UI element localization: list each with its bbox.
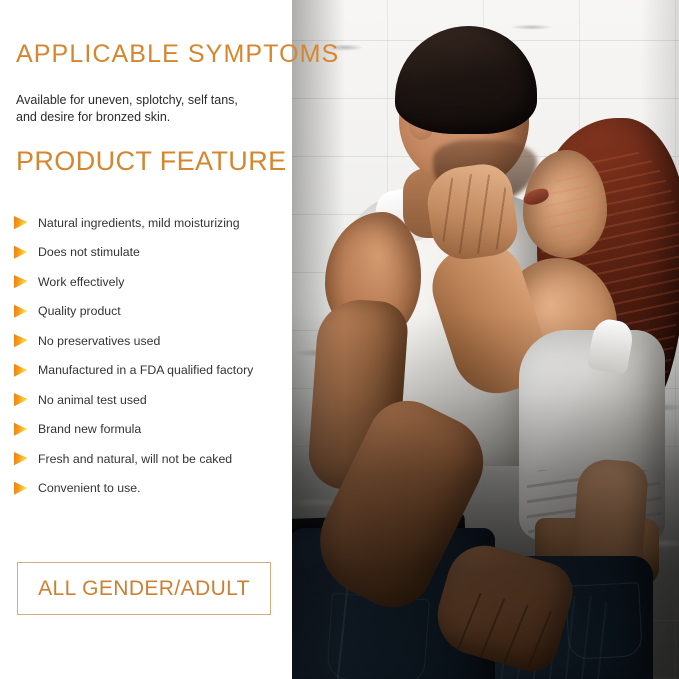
list-item: No preservatives used bbox=[14, 326, 292, 356]
triangle-bullet-icon bbox=[14, 304, 29, 319]
feature-text: Natural ingredients, mild moisturizing bbox=[38, 216, 240, 230]
feature-text: Manufactured in a FDA qualified factory bbox=[38, 363, 253, 377]
list-item: Fresh and natural, will not be caked bbox=[14, 444, 292, 474]
feature-text: No animal test used bbox=[38, 393, 147, 407]
list-item: No animal test used bbox=[14, 385, 292, 415]
feature-text: No preservatives used bbox=[38, 334, 160, 348]
feature-text: Fresh and natural, will not be caked bbox=[38, 452, 232, 466]
triangle-bullet-icon bbox=[14, 274, 29, 289]
symptoms-description: Available for uneven, splotchy, self tan… bbox=[16, 92, 278, 125]
symptoms-description-line-1: Available for uneven, splotchy, self tan… bbox=[16, 92, 278, 109]
triangle-bullet-icon bbox=[14, 422, 29, 437]
list-item: Natural ingredients, mild moisturizing bbox=[14, 208, 292, 238]
left-info-panel: APPLICABLE SYMPTOMS Available for uneven… bbox=[0, 0, 292, 679]
triangle-bullet-icon bbox=[14, 363, 29, 378]
man-jeans-pocket bbox=[326, 593, 430, 679]
all-gender-adult-badge: ALL GENDER/ADULT bbox=[17, 562, 271, 615]
badge-label: ALL GENDER/ADULT bbox=[38, 577, 250, 601]
product-feature-heading: PRODUCT FEATURE bbox=[16, 146, 287, 177]
list-item: Work effectively bbox=[14, 267, 292, 297]
list-item: Does not stimulate bbox=[14, 238, 292, 268]
woman-fingers bbox=[433, 170, 515, 257]
symptoms-description-line-2: and desire for bronzed skin. bbox=[16, 109, 278, 126]
triangle-bullet-icon bbox=[14, 245, 29, 260]
triangle-bullet-icon bbox=[14, 481, 29, 496]
list-item: Manufactured in a FDA qualified factory bbox=[14, 356, 292, 386]
feature-text: Work effectively bbox=[38, 275, 124, 289]
triangle-bullet-icon bbox=[14, 392, 29, 407]
feature-text: Does not stimulate bbox=[38, 245, 140, 259]
triangle-bullet-icon bbox=[14, 451, 29, 466]
list-item: Quality product bbox=[14, 297, 292, 327]
feature-text: Convenient to use. bbox=[38, 481, 141, 495]
feature-text: Brand new formula bbox=[38, 422, 141, 436]
triangle-bullet-icon bbox=[14, 215, 29, 230]
applicable-symptoms-heading: APPLICABLE SYMPTOMS bbox=[16, 40, 339, 69]
lifestyle-photo bbox=[291, 0, 679, 679]
list-item: Brand new formula bbox=[14, 415, 292, 445]
triangle-bullet-icon bbox=[14, 333, 29, 348]
feature-list: Natural ingredients, mild moisturizing D… bbox=[14, 208, 292, 503]
product-feature-banner: APPLICABLE SYMPTOMS Available for uneven… bbox=[0, 0, 679, 679]
woman-jeans-pocket bbox=[565, 582, 643, 660]
feature-text: Quality product bbox=[38, 304, 121, 318]
list-item: Convenient to use. bbox=[14, 474, 292, 504]
